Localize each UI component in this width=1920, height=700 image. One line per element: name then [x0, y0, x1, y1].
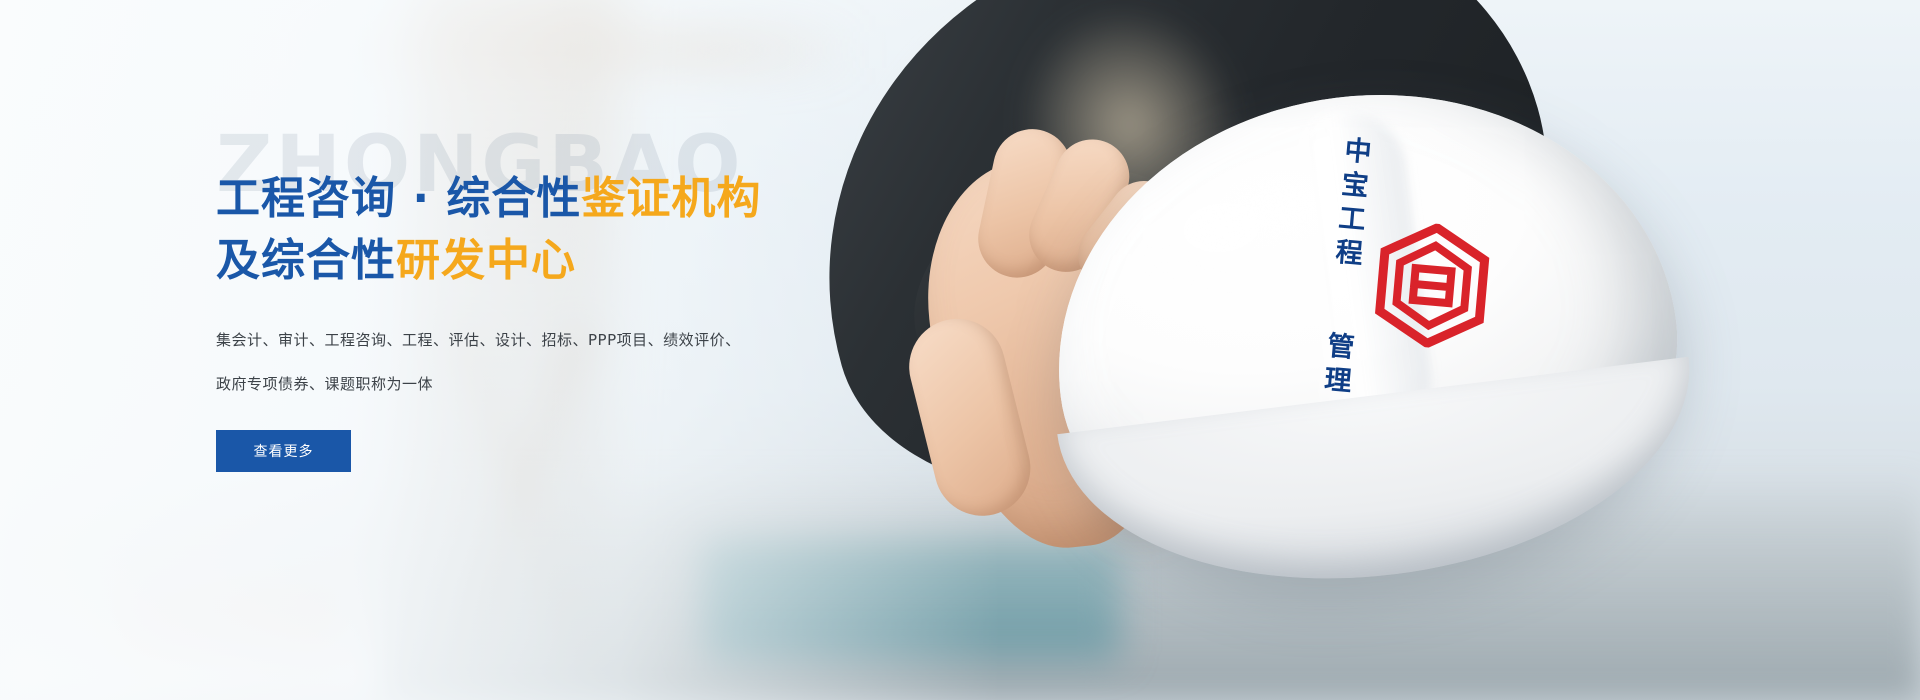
logo-text-right: 中宝工程: [1325, 135, 1376, 274]
headline-line-2: 及综合性研发中心: [216, 230, 916, 292]
hero-banner: 中宝工程 管理 ZHONGBAO 工程咨询 · 综合性鉴证机构 及综合性研发中心…: [0, 0, 1920, 700]
hard-hat-gloss: [1093, 139, 1349, 317]
hero-copy: 工程咨询 · 综合性鉴证机构 及综合性研发中心 集会计、审计、工程咨询、工程、评…: [216, 168, 916, 472]
view-more-button[interactable]: 查看更多: [216, 430, 351, 472]
company-logo-on-helmet: 中宝工程 管理: [1302, 134, 1582, 514]
hero-subtitle: 集会计、审计、工程咨询、工程、评估、设计、招标、PPP项目、绩效评价、 政府专项…: [216, 318, 916, 406]
hexagon-monogram-icon: [1371, 219, 1493, 352]
headline-line-2-orange: 研发中心: [396, 235, 576, 286]
headline-line-1: 工程咨询 · 综合性鉴证机构: [216, 168, 916, 230]
headline-line-1-orange: 鉴证机构: [581, 173, 761, 224]
headline-line-1-blue: 工程咨询 · 综合性: [216, 173, 581, 224]
logo-text-left: 管理: [1314, 330, 1359, 401]
headline-line-2-blue: 及综合性: [216, 235, 396, 286]
hero-subtitle-line-2: 政府专项债券、课题职称为一体: [216, 362, 916, 406]
hard-hat: 中宝工程 管理: [1029, 60, 1702, 602]
hero-subtitle-line-1: 集会计、审计、工程咨询、工程、评估、设计、招标、PPP项目、绩效评价、: [216, 318, 916, 362]
